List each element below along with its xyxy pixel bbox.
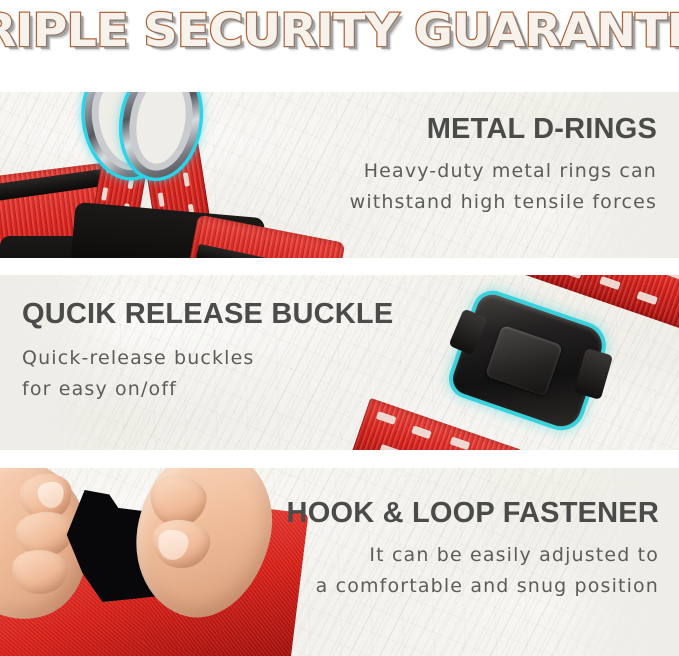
- d-ring-inner-right: [131, 92, 192, 167]
- panel-text-quick-release-buckle: QUCIK RELEASE BUCKLE Quick-release buckl…: [22, 299, 393, 405]
- buckle-face-plate: [485, 325, 563, 397]
- feature-panel-metal-d-rings: METAL D-RINGS Heavy-duty metal rings can…: [0, 92, 679, 258]
- panel-body-line-1: Quick-release buckles: [22, 343, 393, 374]
- panel-divider-2: [0, 450, 679, 468]
- buckle-prong-right: [574, 348, 614, 400]
- page-title: TRIPLE SECURITY GUARANTEE: [0, 8, 679, 54]
- buckle-photo: [388, 275, 679, 450]
- d-rings-photo: [0, 92, 330, 258]
- banner-header: TRIPLE SECURITY GUARANTEE: [0, 0, 679, 62]
- buckle-prong-left: [448, 308, 488, 355]
- webbing-strap-lower: [350, 398, 522, 450]
- panel-body-line-1: Heavy-duty metal rings can: [350, 156, 657, 187]
- panel-body-line-2: withstand high tensile forces: [350, 187, 657, 218]
- panel-text-hook-and-loop-fastener: HOOK & LOOP FASTENER It can be easily ad…: [287, 498, 659, 602]
- side-release-buckle: [449, 290, 608, 431]
- feature-panel-quick-release-buckle: QUCIK RELEASE BUCKLE Quick-release buckl…: [0, 275, 679, 450]
- panel-divider-1: [0, 258, 679, 275]
- panel-body-line-2: for easy on/off: [22, 374, 393, 405]
- panel-body-line-1: It can be easily adjusted to: [287, 540, 659, 571]
- hook-and-loop-photo: [0, 468, 300, 656]
- feature-panel-hook-and-loop-fastener: HOOK & LOOP FASTENER It can be easily ad…: [0, 468, 679, 656]
- panel-heading: QUCIK RELEASE BUCKLE: [22, 299, 393, 329]
- panel-heading: HOOK & LOOP FASTENER: [287, 498, 659, 528]
- panel-text-metal-d-rings: METAL D-RINGS Heavy-duty metal rings can…: [350, 114, 657, 218]
- panel-body-line-2: a comfortable and snug position: [287, 571, 659, 602]
- panel-heading: METAL D-RINGS: [350, 114, 657, 144]
